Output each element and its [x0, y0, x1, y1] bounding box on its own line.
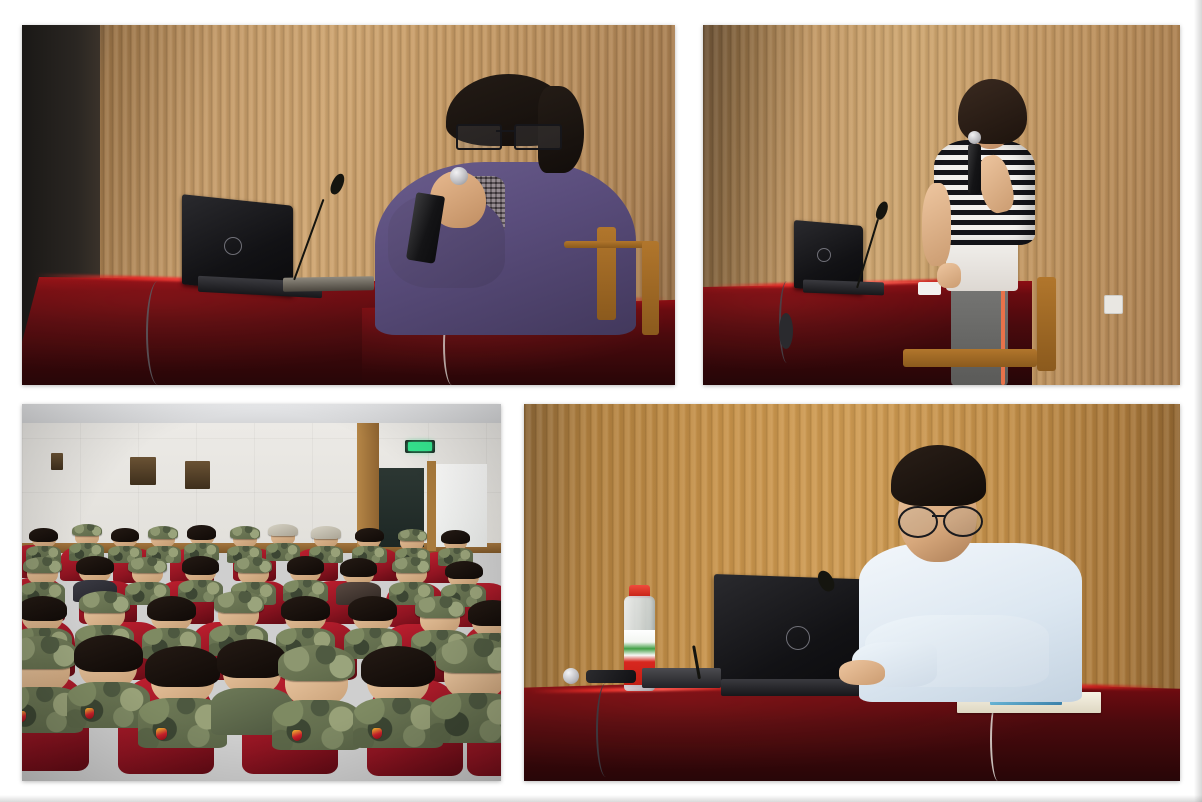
speaker-hand-on-table — [937, 263, 961, 288]
presenter-hand — [839, 660, 885, 685]
photo-bottom-left[interactable] — [22, 404, 501, 781]
page-shadow-right — [1194, 0, 1202, 802]
speaker-right-arm — [922, 183, 951, 266]
vignette — [22, 404, 501, 781]
wooden-chair-leg — [642, 241, 658, 335]
handheld-microphone — [968, 144, 981, 194]
presenter-glasses — [898, 506, 980, 534]
laptop-base — [803, 279, 884, 295]
glasses-bridge — [496, 130, 516, 132]
laptop-keyboard-deck — [283, 276, 374, 292]
handheld-microphone — [586, 670, 635, 684]
photo-collage-page — [0, 0, 1202, 802]
photo-top-left[interactable] — [22, 25, 675, 385]
glasses-lens-left — [898, 506, 938, 538]
glasses-bridge — [932, 515, 944, 517]
photo-bottom-left-content — [22, 404, 501, 781]
photo-bottom-right-content — [524, 404, 1180, 781]
photo-top-right[interactable] — [703, 25, 1180, 385]
wooden-chair-back — [1037, 277, 1056, 371]
page-shadow-bottom — [0, 795, 1202, 802]
power-strip — [918, 282, 942, 294]
wall-socket — [1104, 295, 1123, 314]
photo-top-left-content — [22, 25, 675, 385]
photo-bottom-right[interactable] — [524, 404, 1180, 781]
glasses-lens-right — [514, 124, 562, 150]
dock-block — [642, 668, 721, 688]
speaker-glasses — [456, 124, 560, 146]
photo-top-right-content — [703, 25, 1180, 385]
handheld-microphone-head — [450, 167, 468, 185]
glasses-lens-right — [943, 506, 983, 537]
handheld-microphone-head — [968, 131, 981, 144]
wooden-chair-seat — [903, 349, 1037, 367]
power-cable — [146, 281, 170, 385]
glasses-lens-left — [456, 124, 502, 150]
